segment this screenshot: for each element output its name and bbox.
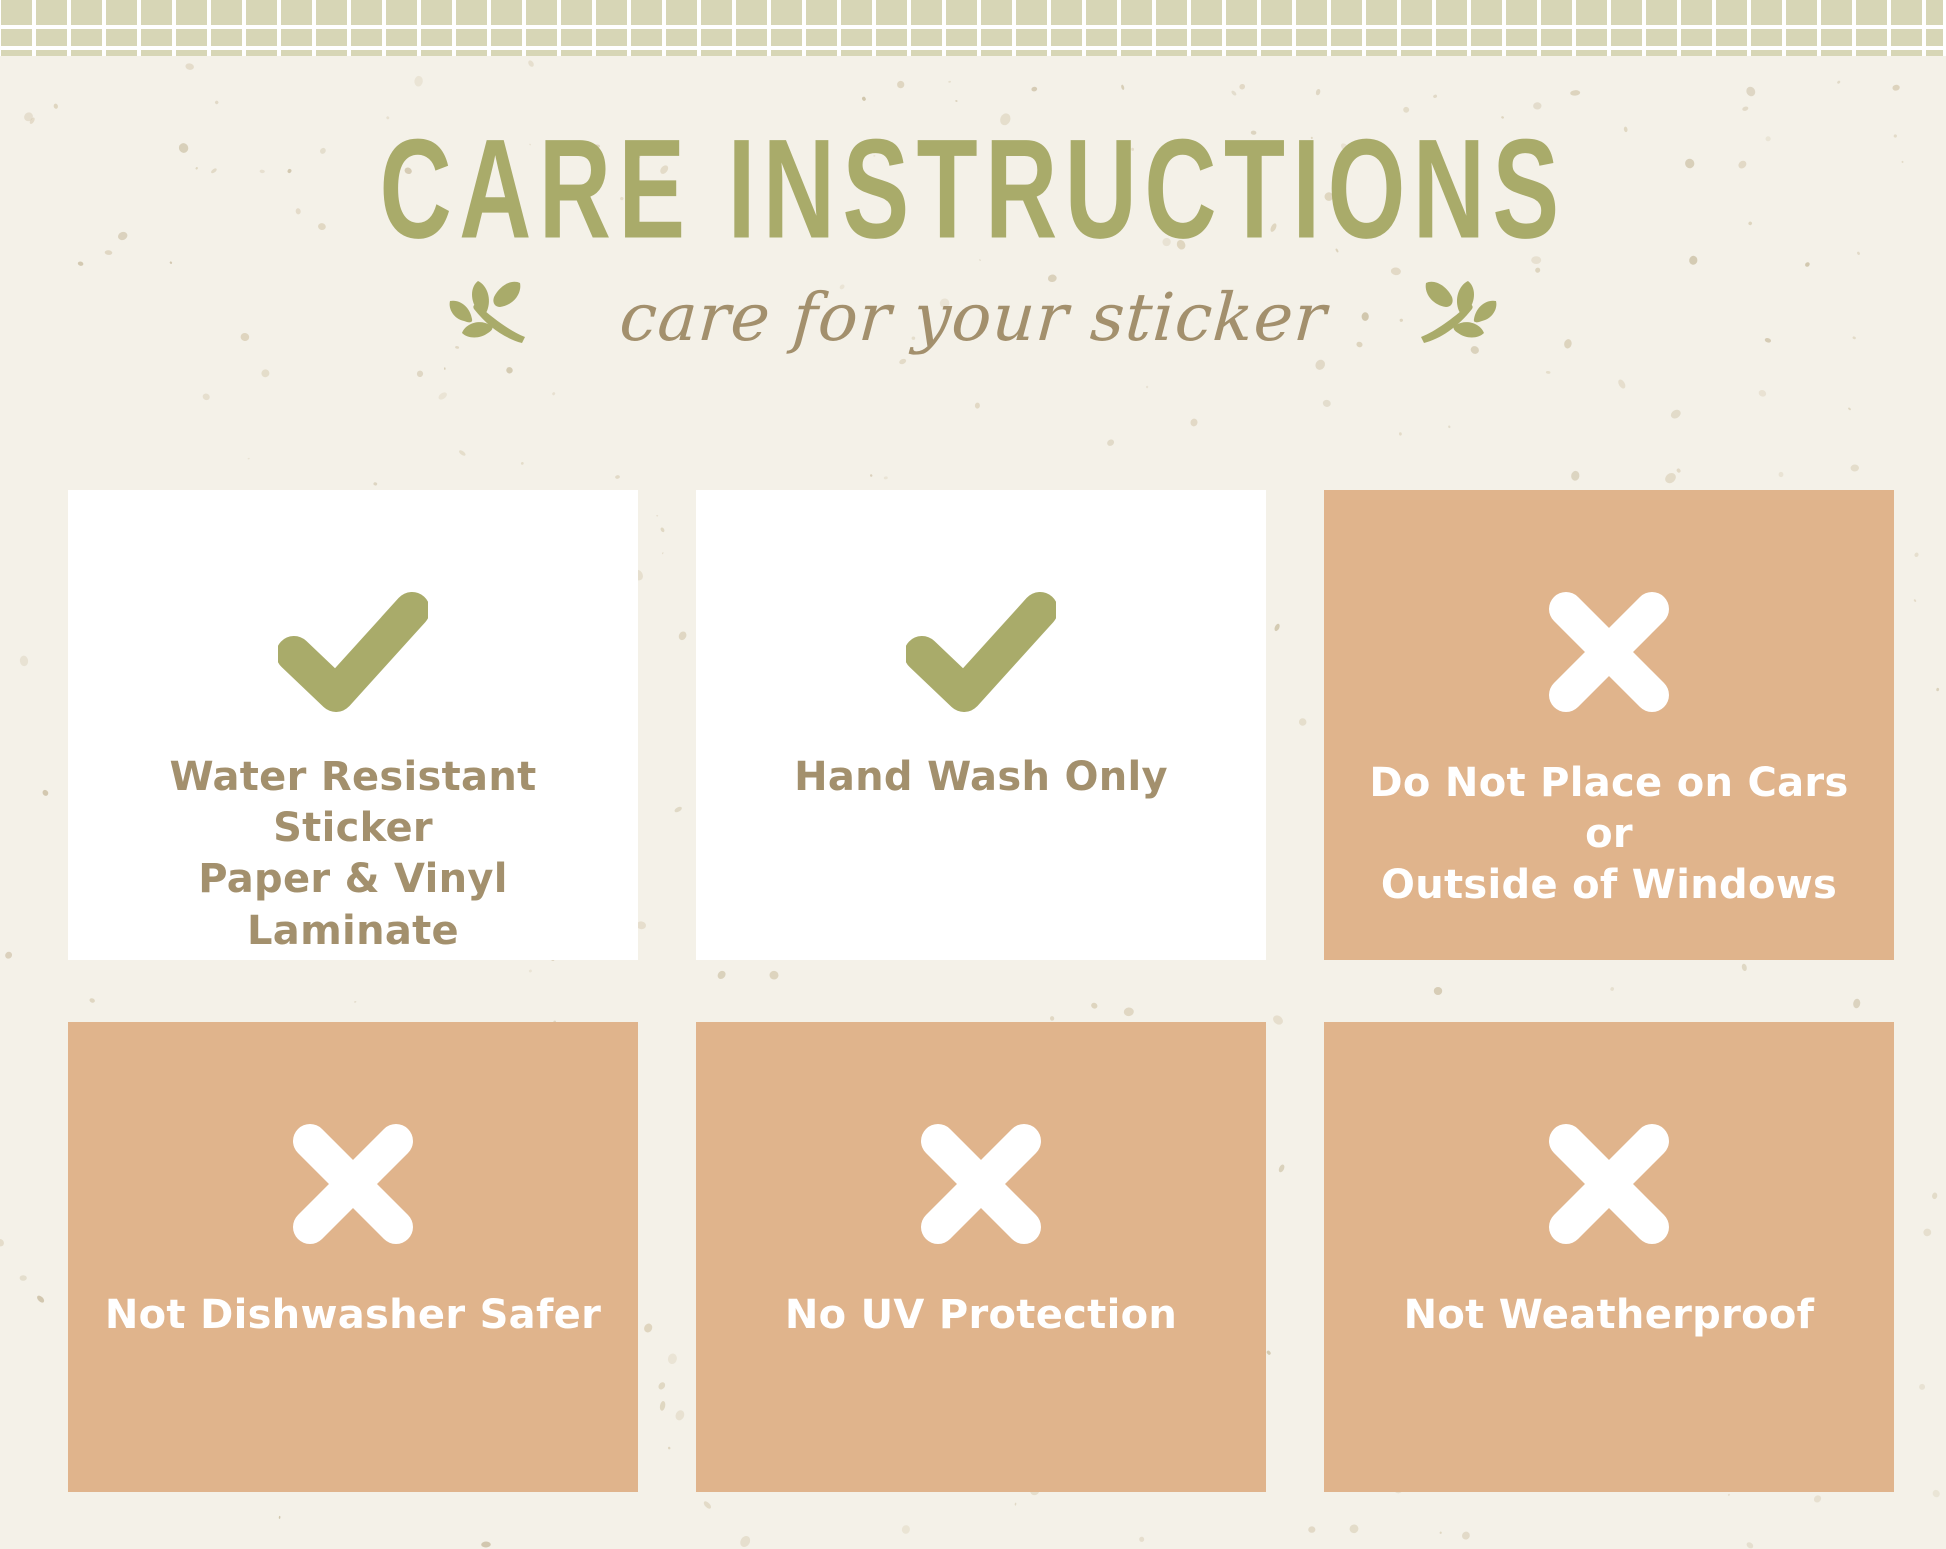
cross-icon [1546,1121,1672,1247]
cross-icon [290,1121,416,1247]
page-title: CARE INSTRUCTIONS [175,118,1771,260]
care-card-label: Not Dishwasher Safer [87,1290,619,1341]
care-card-label: Do Not Place on Cars or Outside of Windo… [1324,758,1894,912]
header: CARE INSTRUCTIONS care for your sticker [0,56,1946,360]
cross-icon [1546,589,1672,715]
check-icon [268,582,438,722]
subtitle-row: care for your sticker [0,274,1946,360]
care-card-label: No UV Protection [767,1290,1195,1341]
check-icon [906,592,1056,712]
care-card-label: Not Weatherproof [1386,1290,1833,1341]
care-card-label: Water Resistant Sticker Paper & Vinyl La… [68,752,638,957]
leaf-sprig-icon [448,277,534,358]
leaf-sprig-icon [1412,277,1498,358]
cross-icon [268,1114,438,1254]
care-card-not-weatherproof: Not Weatherproof [1324,1022,1894,1492]
page-subtitle: care for your sticker [617,279,1329,356]
cross-icon [1524,582,1694,722]
care-card-hand-wash-only: Hand Wash Only [696,490,1266,960]
care-instruction-grid: Water Resistant Sticker Paper & Vinyl La… [68,490,1894,1492]
care-card-label: Hand Wash Only [776,752,1186,803]
cross-icon [896,1114,1066,1254]
care-card-not-dishwasher-safe: Not Dishwasher Safer [68,1022,638,1492]
care-card-water-resistant: Water Resistant Sticker Paper & Vinyl La… [68,490,638,960]
check-icon [896,582,1066,722]
care-card-no-cars-or-windows: Do Not Place on Cars or Outside of Windo… [1324,490,1894,960]
cross-icon [918,1121,1044,1247]
check-icon [278,592,428,712]
care-card-no-uv-protection: No UV Protection [696,1022,1266,1492]
top-grid-border [0,0,1946,56]
cross-icon [1524,1114,1694,1254]
